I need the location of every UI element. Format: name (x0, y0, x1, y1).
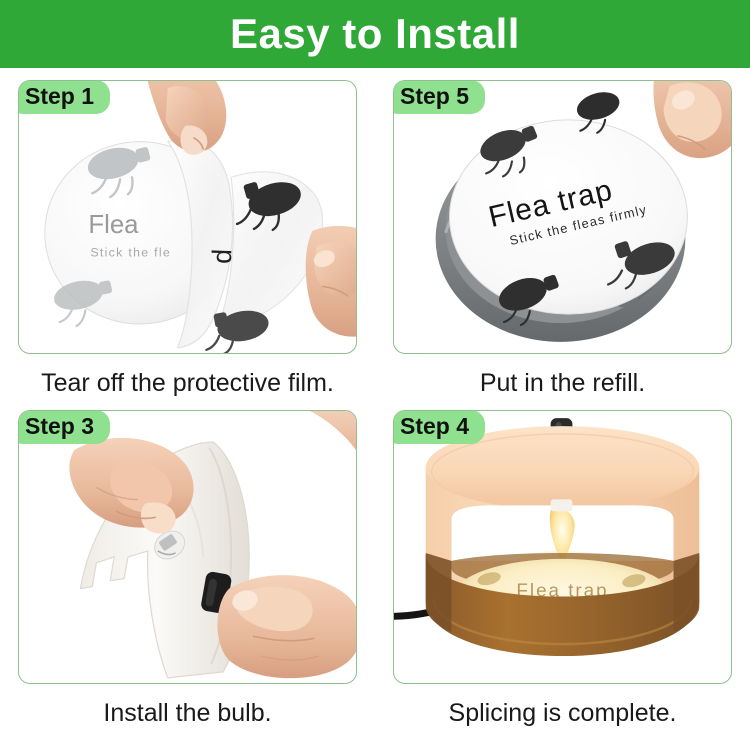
step-caption-2: Put in the refill. (393, 369, 732, 398)
illustration-put-in-refill: Flea trap Stick the fleas firmly (394, 81, 731, 353)
hand-holding-refill (653, 81, 731, 158)
steps-grid: Step 1 (0, 68, 750, 750)
disc-brand-partial: Flea (88, 211, 139, 239)
step-badge-4: Step 4 (393, 410, 485, 444)
step-cell-2: Step 5 (375, 68, 750, 398)
step-badge-2: Step 5 (393, 80, 485, 114)
step-caption-1: Tear off the protective film. (18, 369, 357, 398)
step-card-2: Step 5 (393, 80, 732, 354)
header-banner: Easy to Install (0, 0, 750, 68)
step-cell-1: Step 1 (0, 68, 375, 398)
step-caption-3: Install the bulb. (18, 699, 357, 728)
step-card-1: Step 1 (18, 80, 357, 354)
illustration-tear-off-film: Flea Stick the fle (19, 81, 356, 353)
forearm (231, 411, 356, 456)
step-cell-3: Step 3 (0, 398, 375, 728)
step-card-4: Step 4 (393, 410, 732, 684)
step-cell-4: Step 4 (375, 398, 750, 728)
page-title: Easy to Install (230, 13, 520, 55)
step-card-3: Step 3 (18, 410, 357, 684)
illustration-install-bulb (19, 411, 356, 683)
hand-lower-right (217, 575, 356, 678)
step-caption-4: Splicing is complete. (393, 699, 732, 728)
step-badge-1: Step 1 (18, 80, 110, 114)
step-badge-3: Step 3 (18, 410, 110, 444)
hand-right (306, 226, 356, 337)
disc-tagline-partial: Stick the fle (90, 246, 171, 260)
film-letter: p (211, 249, 242, 265)
illustration-assembled-lamp: Flea trap Stick the fleas firmly (394, 411, 731, 683)
